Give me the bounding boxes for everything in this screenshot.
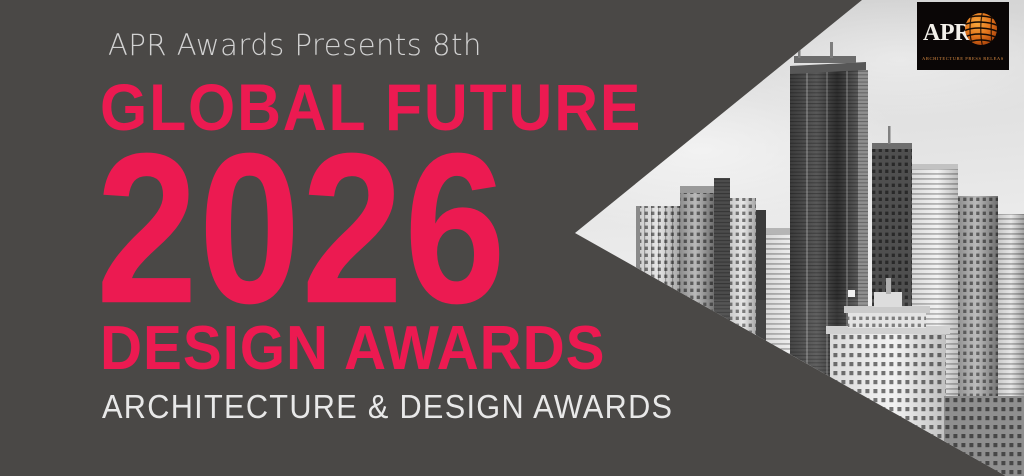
apr-logo[interactable]: APR (917, 2, 1009, 70)
award-banner: APR Awards Presents 8th GLOBAL FUTURE 20… (0, 0, 1024, 476)
subtitle-architecture-design-awards: ARCHITECTURE & DESIGN AWARDS (102, 390, 673, 423)
presents-line: APR Awards Presents 8th (108, 28, 482, 62)
apr-tagline: ARCHITECTURE PRESS RELEASE (922, 56, 1004, 62)
headline-block: APR Awards Presents 8th GLOBAL FUTURE 20… (0, 0, 575, 476)
globe-icon (961, 9, 1001, 49)
title-line-design-awards: DESIGN AWARDS (100, 318, 605, 380)
year-2026: 2026 (96, 122, 507, 336)
